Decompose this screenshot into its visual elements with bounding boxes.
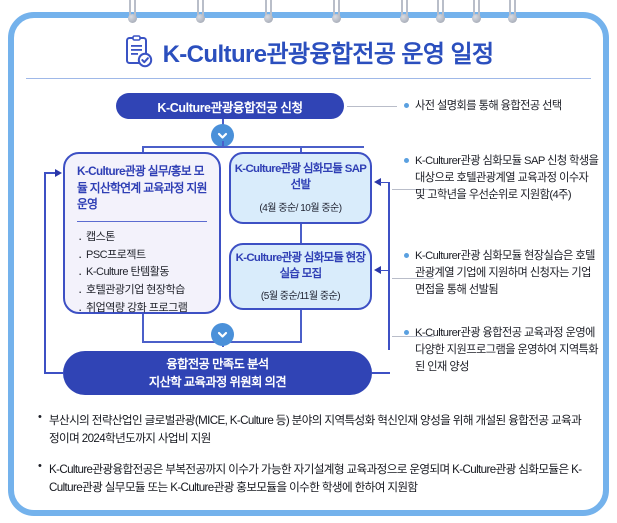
bullet-dot-icon (404, 158, 409, 163)
arrow-into-practical-module (55, 169, 62, 177)
flow-node-field-practice[interactable]: K-Culture관광 심화모듈 현장실습 모집 (5월 중순/11월 중순) (229, 243, 372, 310)
flow-node-satisfaction-analysis[interactable]: 융합전공 만족도 분석 지산학 교육과정 위원회 의견 (63, 351, 372, 395)
connector-feedback-rail (44, 172, 46, 373)
list-item: PSC프로젝트 (77, 247, 208, 265)
box-divider (77, 221, 207, 222)
annotation-note-text: K-Culturer관광 융합전공 교육과정 운영에 다양한 지원프로그램을 운… (415, 325, 600, 376)
annotation-note: K-Culturer관광 심화모듈 SAP 신청 학생을 대상으로 호텔관광계열… (404, 153, 600, 204)
connector-feedback-out (44, 372, 64, 374)
connector-chevron-down (222, 141, 224, 147)
bullet-dot-icon (404, 253, 409, 258)
flow-node-sap-selection-period: (4월 중순/ 10월 중순) (259, 199, 341, 214)
bullet-dot-icon (404, 330, 409, 335)
connector-right-rail (388, 182, 390, 350)
footnote-item: 부산시의 전략산업인 글로벌관광(MICE, K-Culture 등) 분야의 … (38, 412, 584, 448)
flow-node-field-practice-period: (5월 중순/11월 중순) (261, 287, 340, 302)
flow-node-application-label: K-Culture관광융합전공 신청 (157, 97, 302, 116)
connector-practice-down (300, 310, 302, 342)
list-item: 호텔관광기업 현장학습 (77, 282, 208, 300)
footnote-text: 부산시의 전략산업인 글로벌관광(MICE, K-Culture 등) 분야의 … (49, 412, 584, 448)
chevron-down-icon (211, 323, 234, 346)
flow-node-application[interactable]: K-Culture관광융합전공 신청 (116, 93, 344, 119)
footnotes: 부산시의 전략산업인 글로벌관광(MICE, K-Culture 등) 분야의 … (38, 412, 584, 510)
flow-node-field-practice-heading: K-Culture관광 심화모듈 현장실습 모집 (231, 251, 370, 282)
connector-sap-to-practice (300, 224, 302, 243)
list-item: K-Culture 탄템활동 (77, 264, 208, 282)
bullet-dot-icon (404, 103, 409, 108)
connector-split-bar (142, 146, 364, 148)
connector-entry-note (347, 106, 397, 107)
footnote-item: K-Culture관광융합전공은 부복전공까지 이수가 가능한 자기설계형 교육… (38, 461, 584, 497)
flow-node-practical-module-list: 캡스톤 PSC프로젝트 K-Culture 탄템활동 호텔관광기업 현장학습 취… (77, 229, 208, 318)
annotation-note: K-Culturer관광 심화모듈 현장실습은 호텔관광계열 기업에 지원하며 … (404, 248, 600, 299)
flow-node-practical-module-heading: K-Culture관광 실무/홍보 모듈 지산학연계 교육과정 지원 운영 (77, 164, 208, 214)
annotation-note: K-Culturer관광 융합전공 교육과정 운영에 다양한 지원프로그램을 운… (404, 325, 600, 376)
flow-node-practical-module[interactable]: K-Culture관광 실무/홍보 모듈 지산학연계 교육과정 지원 운영 캡스… (63, 152, 221, 314)
annotation-note-text: K-Culturer관광 심화모듈 SAP 신청 학생을 대상으로 호텔관광계열… (415, 153, 600, 204)
annotation-note-text: K-Culturer관광 심화모듈 현장실습은 호텔관광계열 기업에 지원하며 … (415, 248, 600, 299)
flow-node-sap-selection-heading: K-Culture관광 심화모듈 SAP 선발 (231, 162, 370, 193)
connector-into-practice-box (380, 270, 389, 272)
flow-node-sap-selection[interactable]: K-Culture관광 심화모듈 SAP 선발 (4월 중순/ 10월 중순) (229, 152, 372, 224)
connector-into-sap-box (380, 182, 389, 184)
flow-node-satisfaction-analysis-line1: 융합전공 만족도 분석 (166, 355, 268, 373)
list-item: 캡스톤 (77, 229, 208, 247)
annotation-note-text: 사전 설명회를 통해 융합전공 선택 (415, 98, 600, 115)
annotation-note: 사전 설명회를 통해 융합전공 선택 (404, 98, 600, 115)
footnote-text: K-Culture관광융합전공은 부복전공까지 이수가 가능한 자기설계형 교육… (49, 461, 584, 497)
flow-node-satisfaction-analysis-line2: 지산학 교육과정 위원회 의견 (149, 373, 286, 391)
connector-left-down (142, 314, 144, 342)
connector-bottom-right-stub (372, 372, 390, 374)
